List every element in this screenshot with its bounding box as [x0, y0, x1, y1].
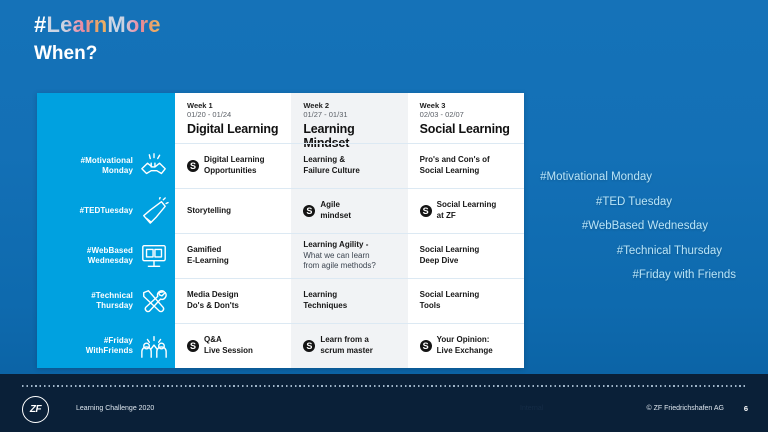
week-cells-2: Learning & Failure Culture SAgile mindse…: [291, 143, 407, 368]
session-label: Pro's and Con's of Social Learning: [420, 155, 490, 176]
day-rail: #Motivational Monday #TEDTuesday: [37, 93, 175, 368]
session-label: Social Learning Tools: [420, 290, 480, 311]
rail-item-label: #Motivational Monday: [81, 156, 133, 176]
session-label: Q&A Live Session: [204, 335, 253, 356]
rail-rows: #Motivational Monday #TEDTuesday: [37, 143, 175, 368]
hashtag-list: #Motivational Monday #TED Tuesday #WebBa…: [486, 172, 736, 295]
week-cells-1: SDigital Learning Opportunities Storytel…: [175, 143, 291, 368]
tools-icon: [139, 287, 169, 315]
session-label: Learning & Failure Culture: [303, 155, 359, 176]
rail-item-ted-tuesday[interactable]: #TEDTuesday: [37, 188, 175, 233]
week-number: Week 2: [303, 101, 397, 110]
hashtag-item: #Technical Thursday: [486, 246, 736, 258]
footer-classification: Internal: [520, 405, 543, 412]
week-topic: Digital Learning: [187, 123, 281, 137]
schedule-card: #Motivational Monday #TEDTuesday: [37, 93, 524, 368]
week-topic: Social Learning: [420, 123, 514, 137]
hashtag-item: #Motivational Monday: [486, 172, 736, 184]
footer-copyright: © ZF Friedrichshafen AG: [646, 405, 724, 412]
zf-logo: ZF: [22, 396, 49, 423]
week-column-1: Week 1 01/20 - 01/24 Digital Learning SD…: [175, 93, 291, 368]
handshake-icon: [139, 152, 169, 180]
skype-icon: S: [303, 340, 315, 352]
week-header-2: Week 2 01/27 - 01/31 Learning Mindset: [291, 93, 407, 143]
week-dates: 01/27 - 01/31: [303, 110, 397, 120]
session-cell[interactable]: Learning & Failure Culture: [291, 143, 407, 188]
week-number: Week 3: [420, 101, 514, 110]
rail-item-label: #Technical Thursday: [91, 291, 133, 311]
session-label: Agile mindset: [320, 200, 351, 221]
brand-learn: Learn: [46, 12, 107, 37]
friends-icon: [139, 332, 169, 360]
week-dates: 02/03 - 02/07: [420, 110, 514, 120]
rail-item-motivational-monday[interactable]: #Motivational Monday: [37, 143, 175, 188]
footer-divider: [22, 385, 746, 387]
rail-item-technical-thursday[interactable]: #Technical Thursday: [37, 278, 175, 323]
week-column-2: Week 2 01/27 - 01/31 Learning Mindset Le…: [291, 93, 407, 368]
session-title: Learning Agility -: [303, 240, 368, 249]
session-label: Learn from a scrum master: [320, 335, 372, 356]
brand-hash: #: [34, 12, 46, 37]
session-label: Gamified E-Learning: [187, 245, 229, 266]
session-cell[interactable]: Media Design Do's & Don'ts: [175, 278, 291, 323]
slide: #LearnMore When? #Motivational Monday #T…: [0, 0, 768, 432]
session-cell[interactable]: SLearn from a scrum master: [291, 323, 407, 368]
session-label: Learning Agility -What we can learn from…: [303, 240, 375, 272]
hashtag-item: #WebBased Wednesday: [486, 221, 736, 233]
week-header-3: Week 3 02/03 - 02/07 Social Learning: [408, 93, 524, 143]
brand-more: More: [107, 12, 160, 37]
rail-item-label: #WebBased Wednesday: [87, 246, 133, 266]
session-cell[interactable]: Learning Techniques: [291, 278, 407, 323]
session-label: Digital Learning Opportunities: [204, 155, 264, 176]
footer-left-text: Learning Challenge 2020: [76, 405, 154, 412]
rail-item-label: #TEDTuesday: [80, 206, 133, 216]
session-cell[interactable]: Gamified E-Learning: [175, 233, 291, 278]
slide-header: #LearnMore When?: [34, 14, 161, 63]
session-subtitle: What we can learn from agile methods?: [303, 251, 375, 271]
week-grid: Week 1 01/20 - 01/24 Digital Learning SD…: [175, 93, 524, 368]
session-cell[interactable]: SQ&A Live Session: [175, 323, 291, 368]
skype-icon: S: [187, 340, 199, 352]
session-cell[interactable]: Learning Agility -What we can learn from…: [291, 233, 407, 278]
week-number: Week 1: [187, 101, 281, 110]
session-label: Storytelling: [187, 206, 231, 217]
monitor-icon: [139, 242, 169, 270]
week-header-1: Week 1 01/20 - 01/24 Digital Learning: [175, 93, 291, 143]
skype-icon: S: [420, 340, 432, 352]
rail-item-webbased-wednesday[interactable]: #WebBased Wednesday: [37, 233, 175, 278]
rail-item-label: #Friday WithFriends: [86, 336, 133, 356]
session-cell[interactable]: Storytelling: [175, 188, 291, 233]
session-label: Learning Techniques: [303, 290, 347, 311]
footer-page-number: 6: [744, 404, 748, 413]
rail-spacer: [37, 93, 175, 143]
week-dates: 01/20 - 01/24: [187, 110, 281, 120]
rail-item-friday-withfriends[interactable]: #Friday WithFriends: [37, 323, 175, 368]
hashtag-item: #TED Tuesday: [486, 197, 736, 209]
hashtag-item: #Friday with Friends: [486, 270, 736, 282]
slide-footer: ZF Learning Challenge 2020 Internal © ZF…: [0, 374, 768, 432]
session-label: Your Opinion: Live Exchange: [437, 335, 493, 356]
page-title: When?: [34, 44, 161, 63]
session-label: Media Design Do's & Don'ts: [187, 290, 239, 311]
brand-title: #LearnMore: [34, 14, 161, 36]
skype-icon: S: [187, 160, 199, 172]
session-cell[interactable]: SAgile mindset: [291, 188, 407, 233]
session-label: Social Learning Deep Dive: [420, 245, 480, 266]
megaphone-icon: [139, 197, 169, 225]
session-cell[interactable]: SDigital Learning Opportunities: [175, 143, 291, 188]
skype-icon: S: [420, 205, 432, 217]
skype-icon: S: [303, 205, 315, 217]
session-cell[interactable]: SYour Opinion: Live Exchange: [408, 323, 524, 368]
